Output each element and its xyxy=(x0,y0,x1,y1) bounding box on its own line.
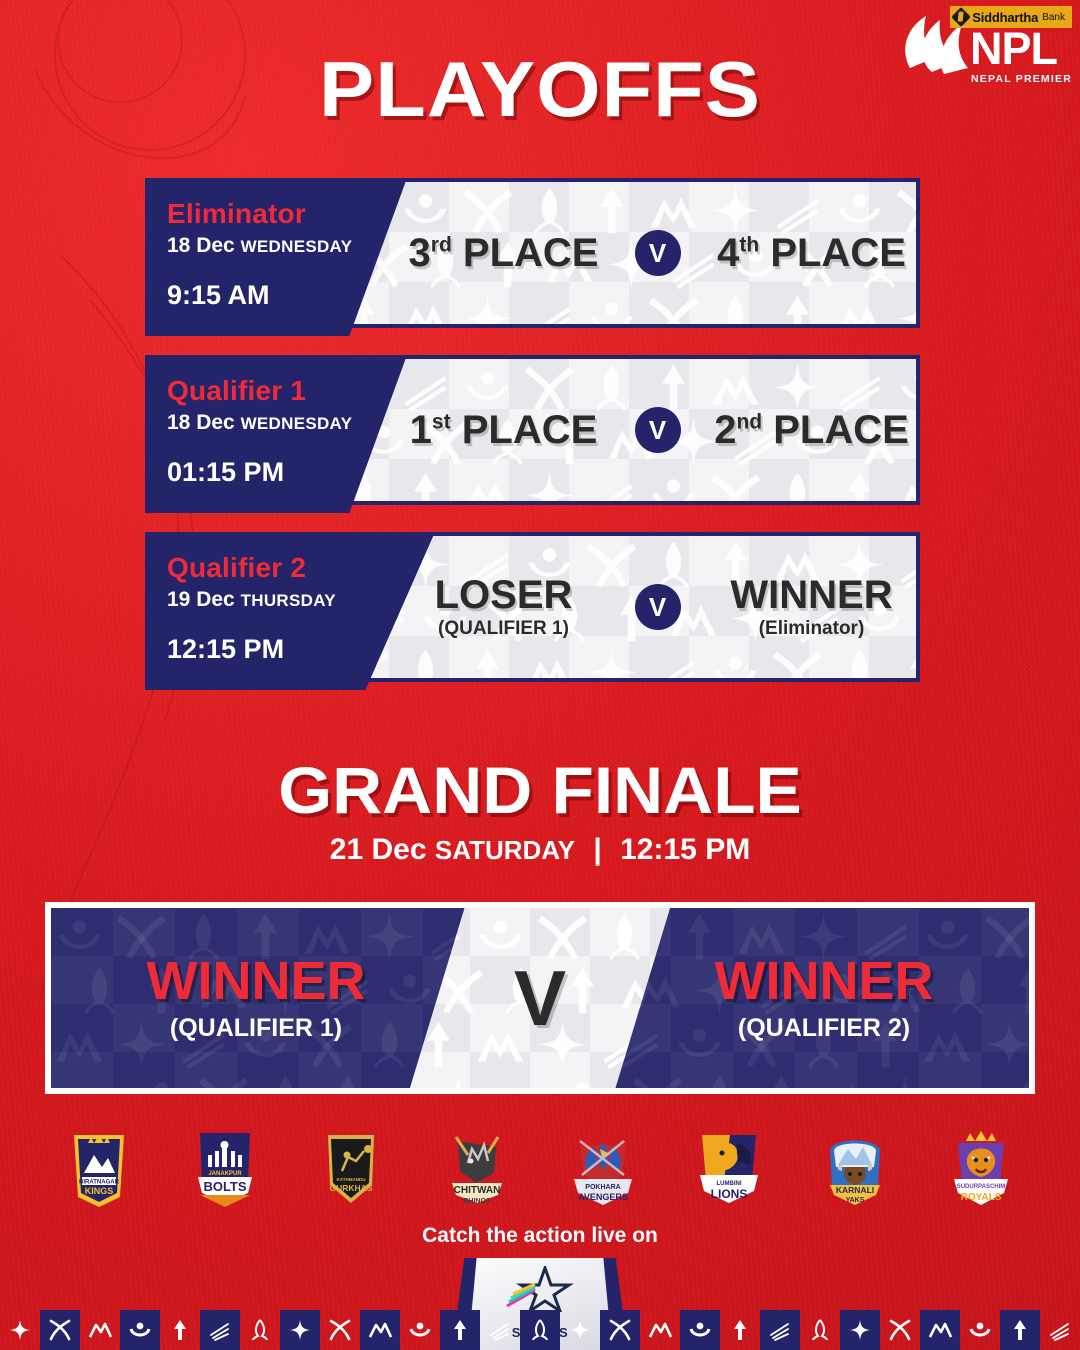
strip-cell-lines-icon xyxy=(1040,1310,1080,1350)
team-logo-janakpur-bolts[interactable]: JANAKPUR BOLTS xyxy=(186,1127,264,1209)
team-logo-line1: CHITWAN xyxy=(454,1185,501,1196)
strip-cell-fish-icon xyxy=(800,1310,840,1350)
strip-cell-lines-icon xyxy=(200,1310,240,1350)
team-logo-kathmandu-gurkhas[interactable]: KATHMANDU GURKHAS xyxy=(312,1127,390,1209)
strip-cell-arrow-icon xyxy=(440,1310,480,1350)
finale-team-left-sub: (QUALIFIER 1) xyxy=(170,1014,342,1043)
strip-cell-diamond-icon xyxy=(560,1310,600,1350)
match-card-qualifier-2[interactable]: Qualifier 2 19 Dec THURSDAY 12:15 PM LOS… xyxy=(145,532,920,682)
finale-banner-inner: WINNER (QUALIFIER 1) V WINNER (QUALIFIER… xyxy=(51,908,1029,1088)
strip-cell-mountain-icon xyxy=(80,1310,120,1350)
strip-cell-arrow-icon xyxy=(1000,1310,1040,1350)
team-slot-right-sub: (Eliminator) xyxy=(707,618,917,640)
svg-text:NPL: NPL xyxy=(970,23,1058,74)
broadcast-caption: Catch the action live on xyxy=(0,1224,1080,1248)
strip-cell-lines-icon xyxy=(760,1310,800,1350)
strip-cell-cross-icon xyxy=(600,1310,640,1350)
team-logo-line2: GURKHAS xyxy=(330,1183,373,1193)
team-logo-sudurpaschim-royals[interactable]: SUDURPASCHIM ROYALS xyxy=(942,1127,1020,1209)
team-slot-right: WINNER (Eliminator) xyxy=(707,575,917,640)
team-logo-karnali-yaks[interactable]: KARNALI YAKS xyxy=(816,1127,894,1209)
match-day: WEDNESDAY xyxy=(241,237,353,256)
team-logo-line1: KARNALI xyxy=(836,1185,874,1195)
finale-team-left: WINNER (QUALIFIER 1) xyxy=(71,908,441,1088)
team-logo-line2: ROYALS xyxy=(961,1192,1002,1203)
team-slot-right-label: WINNER xyxy=(707,575,917,615)
finale-team-right: WINNER (QUALIFIER 2) xyxy=(639,908,1009,1088)
strip-cell-arrow-icon xyxy=(160,1310,200,1350)
team-logo-line1: BIRATNAGAR xyxy=(79,1180,120,1186)
match-card-eliminator[interactable]: Eliminator 18 Dec WEDNESDAY 9:15 AM 3rd … xyxy=(145,178,920,328)
team-logo-biratnagar-kings[interactable]: BIRATNAGAR KINGS xyxy=(60,1127,138,1209)
team-logo-line2: YAKS xyxy=(846,1197,865,1204)
team-logo-line1: JANAKPUR xyxy=(208,1171,242,1177)
match-name: Eliminator xyxy=(167,198,407,230)
strip-cell-sun-icon xyxy=(120,1310,160,1350)
match-day: THURSDAY xyxy=(241,591,336,610)
match-date-value: 18 Dec xyxy=(167,234,235,257)
strip-cell-sun-icon xyxy=(400,1310,440,1350)
team-slot-right: 4th PLACE xyxy=(707,233,917,273)
grand-finale-banner[interactable]: WINNER (QUALIFIER 1) V WINNER (QUALIFIER… xyxy=(45,902,1035,1094)
match-name: Qualifier 2 xyxy=(167,552,435,584)
team-logo-line2: AVENGERS xyxy=(578,1192,628,1202)
grand-finale-subtitle: 21 Dec SATURDAY | 12:15 PM xyxy=(0,833,1080,867)
star-icon xyxy=(501,1266,579,1312)
match-date: 18 Dec WEDNESDAY xyxy=(167,234,407,258)
match-card-qualifier-1[interactable]: Qualifier 1 18 Dec WEDNESDAY 01:15 PM 1s… xyxy=(145,355,920,505)
siddhartha-bank-icon xyxy=(951,7,971,27)
strip-cell-cross-icon xyxy=(40,1310,80,1350)
match-name: Qualifier 1 xyxy=(167,375,407,407)
strip-cell-fish-icon xyxy=(240,1310,280,1350)
bottom-decorative-strip xyxy=(0,1310,1080,1350)
team-slot-left-label: 1st PLACE xyxy=(399,410,609,450)
team-logo-pokhara-avengers[interactable]: POKHARA AVENGERS xyxy=(564,1127,642,1209)
strip-cell-cross-icon xyxy=(880,1310,920,1350)
team-slot-left: 3rd PLACE xyxy=(399,233,609,273)
team-logo-line2: BOLTS xyxy=(203,1179,246,1194)
team-logo-line2: RHINOS xyxy=(463,1198,491,1205)
strip-cell-sun-icon xyxy=(960,1310,1000,1350)
team-slot-right-label: 2nd PLACE xyxy=(707,410,917,450)
team-slot-right-label: 4th PLACE xyxy=(707,233,917,273)
team-slot-left: LOSER (QUALIFIER 1) xyxy=(399,575,609,640)
grand-finale-title: GRAND FINALE xyxy=(0,752,1080,828)
sponsor-badge: Siddhartha Bank xyxy=(950,6,1072,28)
finale-team-right-label: WINNER xyxy=(715,954,934,1008)
finale-team-right-sub: (QUALIFIER 2) xyxy=(738,1014,910,1043)
team-slot-right: 2nd PLACE xyxy=(707,410,917,450)
team-slot-left-sub: (QUALIFIER 1) xyxy=(399,618,609,640)
strip-cell-mountain-icon xyxy=(640,1310,680,1350)
versus-badge: V xyxy=(635,230,681,276)
match-day: WEDNESDAY xyxy=(241,414,353,433)
strip-cell-diamond-icon xyxy=(0,1310,40,1350)
sponsor-name: Siddhartha xyxy=(972,10,1038,25)
strip-cell-fish-icon xyxy=(520,1310,560,1350)
match-date-value: 18 Dec xyxy=(167,411,235,434)
versus-badge: V xyxy=(635,584,681,630)
strip-cell-mountain-icon xyxy=(920,1310,960,1350)
strip-cell-lines-icon xyxy=(480,1310,520,1350)
team-logo-line2: LIONS xyxy=(711,1187,748,1201)
team-logo-chitwan-rhinos[interactable]: CHITWAN RHINOS xyxy=(438,1127,516,1209)
team-logo-line1: POKHARA xyxy=(585,1184,620,1191)
match-date: 18 Dec WEDNESDAY xyxy=(167,411,407,435)
team-logos-row: BIRATNAGAR KINGS JANAKPUR BOLTS KATH xyxy=(60,1122,1020,1214)
match-date: 19 Dec THURSDAY xyxy=(167,588,435,612)
strip-cell-sun-icon xyxy=(680,1310,720,1350)
svg-text:NEPAL PREMIER LEAGUE: NEPAL PREMIER LEAGUE xyxy=(971,73,1072,85)
team-slot-left: 1st PLACE xyxy=(399,410,609,450)
finale-date: 21 Dec xyxy=(330,833,427,866)
finale-day: SATURDAY xyxy=(435,835,575,865)
sponsor-suffix: Bank xyxy=(1042,12,1065,23)
strip-cell-arrow-icon xyxy=(720,1310,760,1350)
team-logo-line2: KINGS xyxy=(85,1186,114,1196)
finale-separator: | xyxy=(593,833,601,866)
team-slot-left-label: LOSER xyxy=(399,575,609,615)
team-logo-line1: KATHMANDU xyxy=(337,1177,366,1182)
team-logo-line1: SUDURPASCHIM xyxy=(957,1184,1006,1190)
strip-cell-diamond-icon xyxy=(840,1310,880,1350)
match-date-value: 19 Dec xyxy=(167,588,235,611)
team-logo-lumbini-lions[interactable]: LUMBINI LIONS xyxy=(690,1127,768,1209)
finale-team-left-label: WINNER xyxy=(147,954,366,1008)
strip-cell-diamond-icon xyxy=(280,1310,320,1350)
strip-cell-mountain-icon xyxy=(360,1310,400,1350)
team-slot-left-label: 3rd PLACE xyxy=(399,233,609,273)
strip-cell-cross-icon xyxy=(320,1310,360,1350)
versus-badge: V xyxy=(635,407,681,453)
finale-time: 12:15 PM xyxy=(620,833,750,866)
